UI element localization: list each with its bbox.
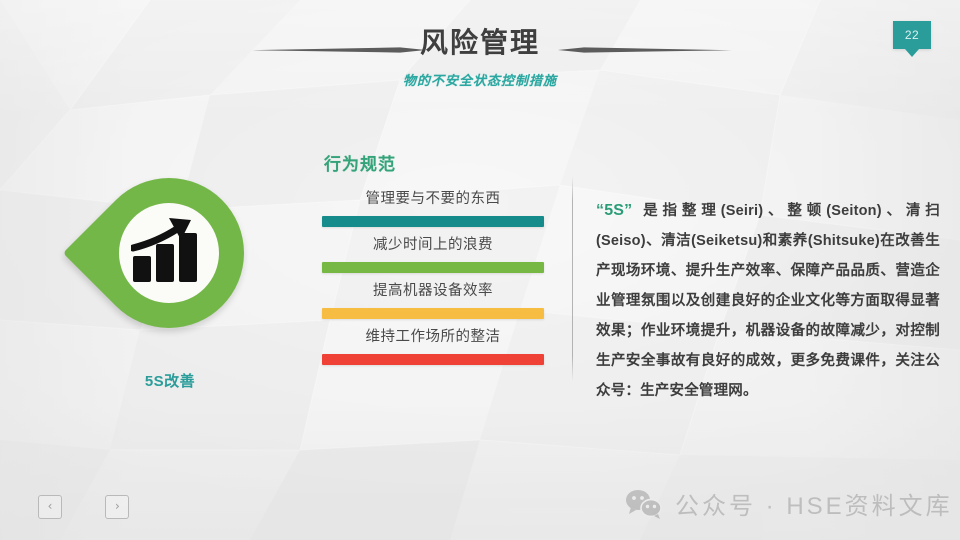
list-item-label: 维持工作场所的整洁 xyxy=(322,325,544,354)
title-rule-right-icon xyxy=(558,46,732,54)
column-divider xyxy=(572,176,573,381)
left-icon-label: 5S改善 xyxy=(86,370,254,391)
title-row: 风险管理 xyxy=(0,22,960,66)
next-slide-button[interactable]: › xyxy=(105,495,129,519)
left-icon-panel: 5S改善 xyxy=(86,178,254,403)
list-item[interactable]: 维持工作场所的整洁 xyxy=(322,325,544,365)
watermark: 公众号 · HSE资料文库 xyxy=(625,486,953,521)
list-item-bar xyxy=(322,308,544,319)
list-item-label: 提高机器设备效率 xyxy=(322,279,544,308)
slide-header: 风险管理 物的不安全状态控制措施 xyxy=(0,22,960,89)
slide-canvas: 22 风险管理 物的不安全状态控制措施 5S改善 行为规范 管理 xyxy=(0,0,960,540)
list-item-bar xyxy=(322,216,544,227)
behavior-norms-heading: 行为规范 xyxy=(324,150,544,175)
growth-bar-chart-icon xyxy=(131,216,207,290)
description-paragraph: “5S”是指整理(Seiri)、整顿(Seiton)、清扫(Seiso)、清洁(… xyxy=(596,196,940,406)
behavior-norms-panel: 行为规范 管理要与不要的东西 减少时间上的浪费 提高机器设备效率 维持工作场所的… xyxy=(322,150,544,365)
list-item[interactable]: 提高机器设备效率 xyxy=(322,279,544,319)
list-item-bar xyxy=(322,354,544,365)
slide-navigation: ‹ › xyxy=(38,495,168,519)
list-item[interactable]: 减少时间上的浪费 xyxy=(322,233,544,273)
list-item-bar xyxy=(322,262,544,273)
list-item[interactable]: 管理要与不要的东西 xyxy=(322,187,544,227)
watermark-text: 公众号 · HSE资料文库 xyxy=(675,486,953,521)
page-subtitle: 物的不安全状态控制措施 xyxy=(0,70,960,89)
list-item-label: 减少时间上的浪费 xyxy=(322,233,544,262)
description-body: 是指整理(Seiri)、整顿(Seiton)、清扫(Seiso)、清洁(Seik… xyxy=(596,203,940,399)
list-item-label: 管理要与不要的东西 xyxy=(322,187,544,216)
description-keyword: “5S” xyxy=(596,202,632,219)
page-title: 风险管理 xyxy=(0,22,960,64)
wechat-icon xyxy=(625,489,663,519)
prev-slide-button[interactable]: ‹ xyxy=(38,495,62,519)
